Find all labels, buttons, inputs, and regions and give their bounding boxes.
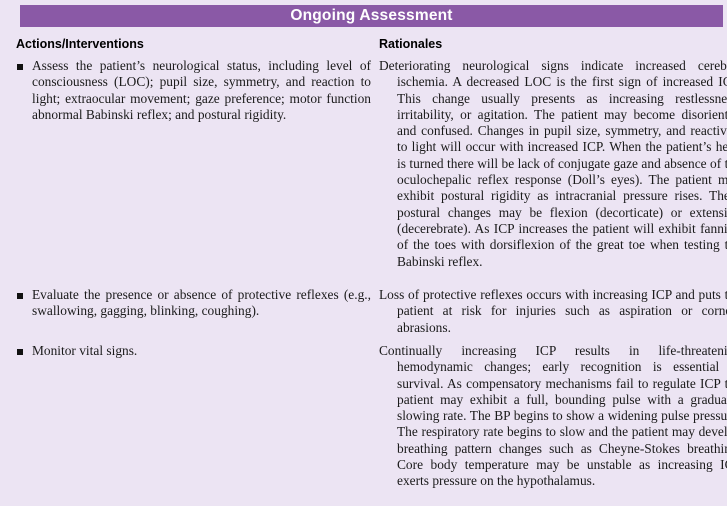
section-title-banner: Ongoing Assessment bbox=[20, 5, 723, 27]
rationale-paragraph: Loss of protective reflexes occurs with … bbox=[379, 287, 727, 336]
list-item: Assess the patient’s neurological status… bbox=[16, 58, 371, 123]
list-item: Monitor vital signs. bbox=[16, 343, 137, 359]
page-title: Ongoing Assessment bbox=[290, 8, 452, 24]
square-bullet-icon bbox=[17, 293, 23, 299]
column-header-actions: Actions/Interventions bbox=[16, 38, 144, 51]
list-item-label: Assess the patient’s neurological status… bbox=[32, 58, 371, 123]
care-plan-body: Assess the patient’s neurological status… bbox=[0, 58, 727, 506]
list-item: Evaluate the presence or absence of prot… bbox=[16, 287, 371, 320]
list-item-label: Monitor vital signs. bbox=[32, 343, 137, 359]
list-item-label: Evaluate the presence or absence of prot… bbox=[32, 287, 371, 320]
rationale-paragraph: Continually increasing ICP results in li… bbox=[379, 343, 727, 490]
ongoing-assessment-care-plan-page: { "header": { "title": "Ongoing Assessme… bbox=[0, 0, 727, 506]
rationale-paragraph: Deteriorating neurological signs indicat… bbox=[379, 58, 727, 270]
column-header-rationales: Rationales bbox=[379, 38, 442, 51]
square-bullet-icon bbox=[17, 64, 23, 70]
square-bullet-icon bbox=[17, 349, 23, 355]
